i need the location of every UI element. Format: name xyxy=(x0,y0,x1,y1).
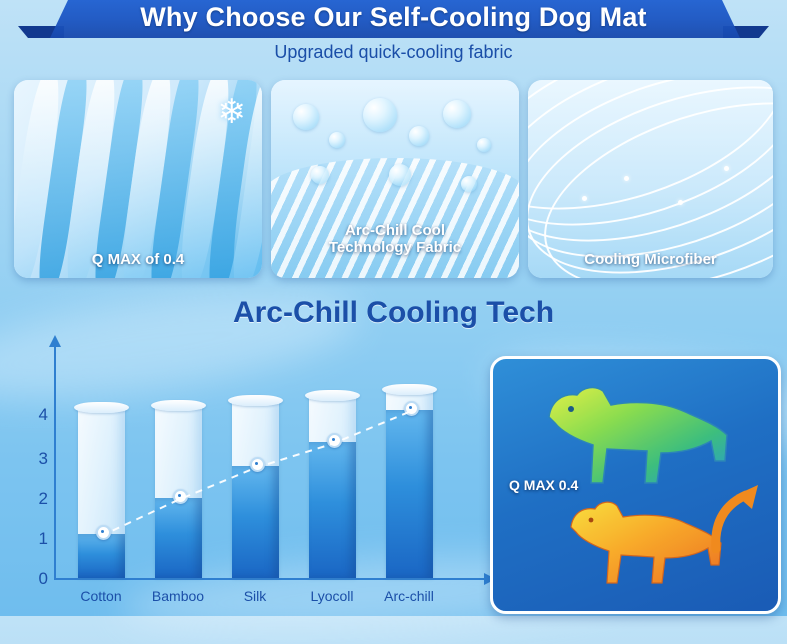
bar-arc-chill xyxy=(386,390,433,578)
caption-line-2: Technology Fabric xyxy=(329,239,461,256)
x-label-bamboo: Bamboo xyxy=(135,588,221,604)
thermal-comparison-panel: Q MAX 0.4 xyxy=(490,356,781,614)
feature-card-caption: Cooling Microfiber xyxy=(528,251,773,268)
microfiber-strands-illustration xyxy=(528,80,773,278)
bar-bamboo xyxy=(155,406,202,578)
feature-card-caption: Q MAX of 0.4 xyxy=(14,251,262,268)
upward-arrow-icon xyxy=(706,479,764,553)
y-tick-0: 0 xyxy=(24,569,48,589)
snowflake-icon: ❄ xyxy=(218,92,247,132)
feature-card-cooling-microfiber: Cooling Microfiber xyxy=(528,80,773,278)
cooling-bar-chart: 0 1 2 3 4 Cotton Bamboo Silk Lyocoll xyxy=(10,345,490,610)
feature-card-row: ❄ Q MAX of 0.4 Arc-Chill Cool Technology… xyxy=(0,80,787,280)
section-title-cooling-tech: Arc-Chill Cooling Tech xyxy=(0,296,787,330)
caption-line-1: Arc-Chill Cool xyxy=(345,222,445,239)
header-banner: Why Choose Our Self-Cooling Dog Mat xyxy=(0,0,787,40)
feature-card-qmax: ❄ Q MAX of 0.4 xyxy=(14,80,262,278)
x-label-lyocoll: Lyocoll xyxy=(289,588,375,604)
chart-y-axis xyxy=(54,345,56,580)
y-tick-4: 4 xyxy=(24,405,48,425)
page-title: Why Choose Our Self-Cooling Dog Mat xyxy=(0,2,787,33)
x-label-silk: Silk xyxy=(212,588,298,604)
x-label-cotton: Cotton xyxy=(58,588,144,604)
feature-card-caption: Arc-Chill Cool Technology Fabric xyxy=(271,222,519,257)
y-tick-2: 2 xyxy=(24,489,48,509)
bar-silk xyxy=(232,401,279,578)
y-tick-1: 1 xyxy=(24,529,48,549)
chart-x-axis xyxy=(54,578,486,580)
page-subtitle: Upgraded quick-cooling fabric xyxy=(0,42,787,63)
x-label-arc-chill: Arc-chill xyxy=(366,588,452,604)
y-tick-3: 3 xyxy=(24,449,48,469)
feature-card-arc-chill-fabric: Arc-Chill Cool Technology Fabric xyxy=(271,80,519,278)
bar-lyocoll xyxy=(309,396,356,578)
bar-cotton xyxy=(78,408,125,578)
